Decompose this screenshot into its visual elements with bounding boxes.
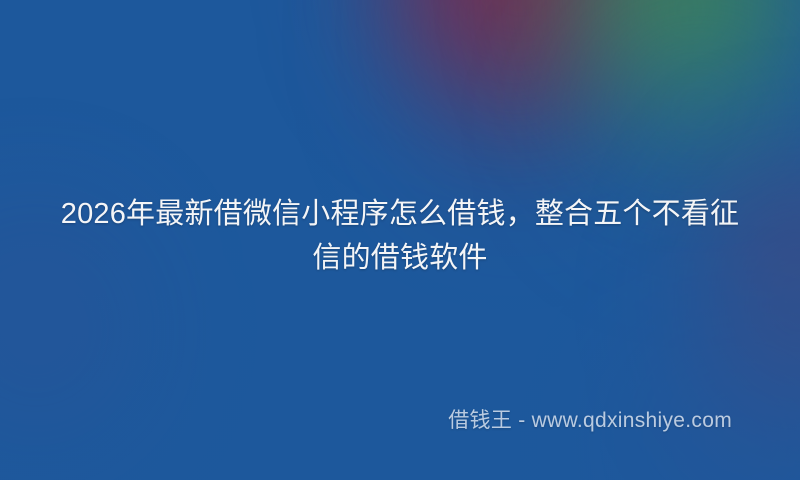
headline-title: 2026年最新借微信小程序怎么借钱，整合五个不看征信的借钱软件 <box>0 192 800 280</box>
content-layer: 2026年最新借微信小程序怎么借钱，整合五个不看征信的借钱软件 借钱王 - ww… <box>0 0 800 480</box>
site-watermark: 借钱王 - www.qdxinshiye.com <box>448 406 732 436</box>
cover-image-canvas: 2026年最新借微信小程序怎么借钱，整合五个不看征信的借钱软件 借钱王 - ww… <box>0 0 800 480</box>
